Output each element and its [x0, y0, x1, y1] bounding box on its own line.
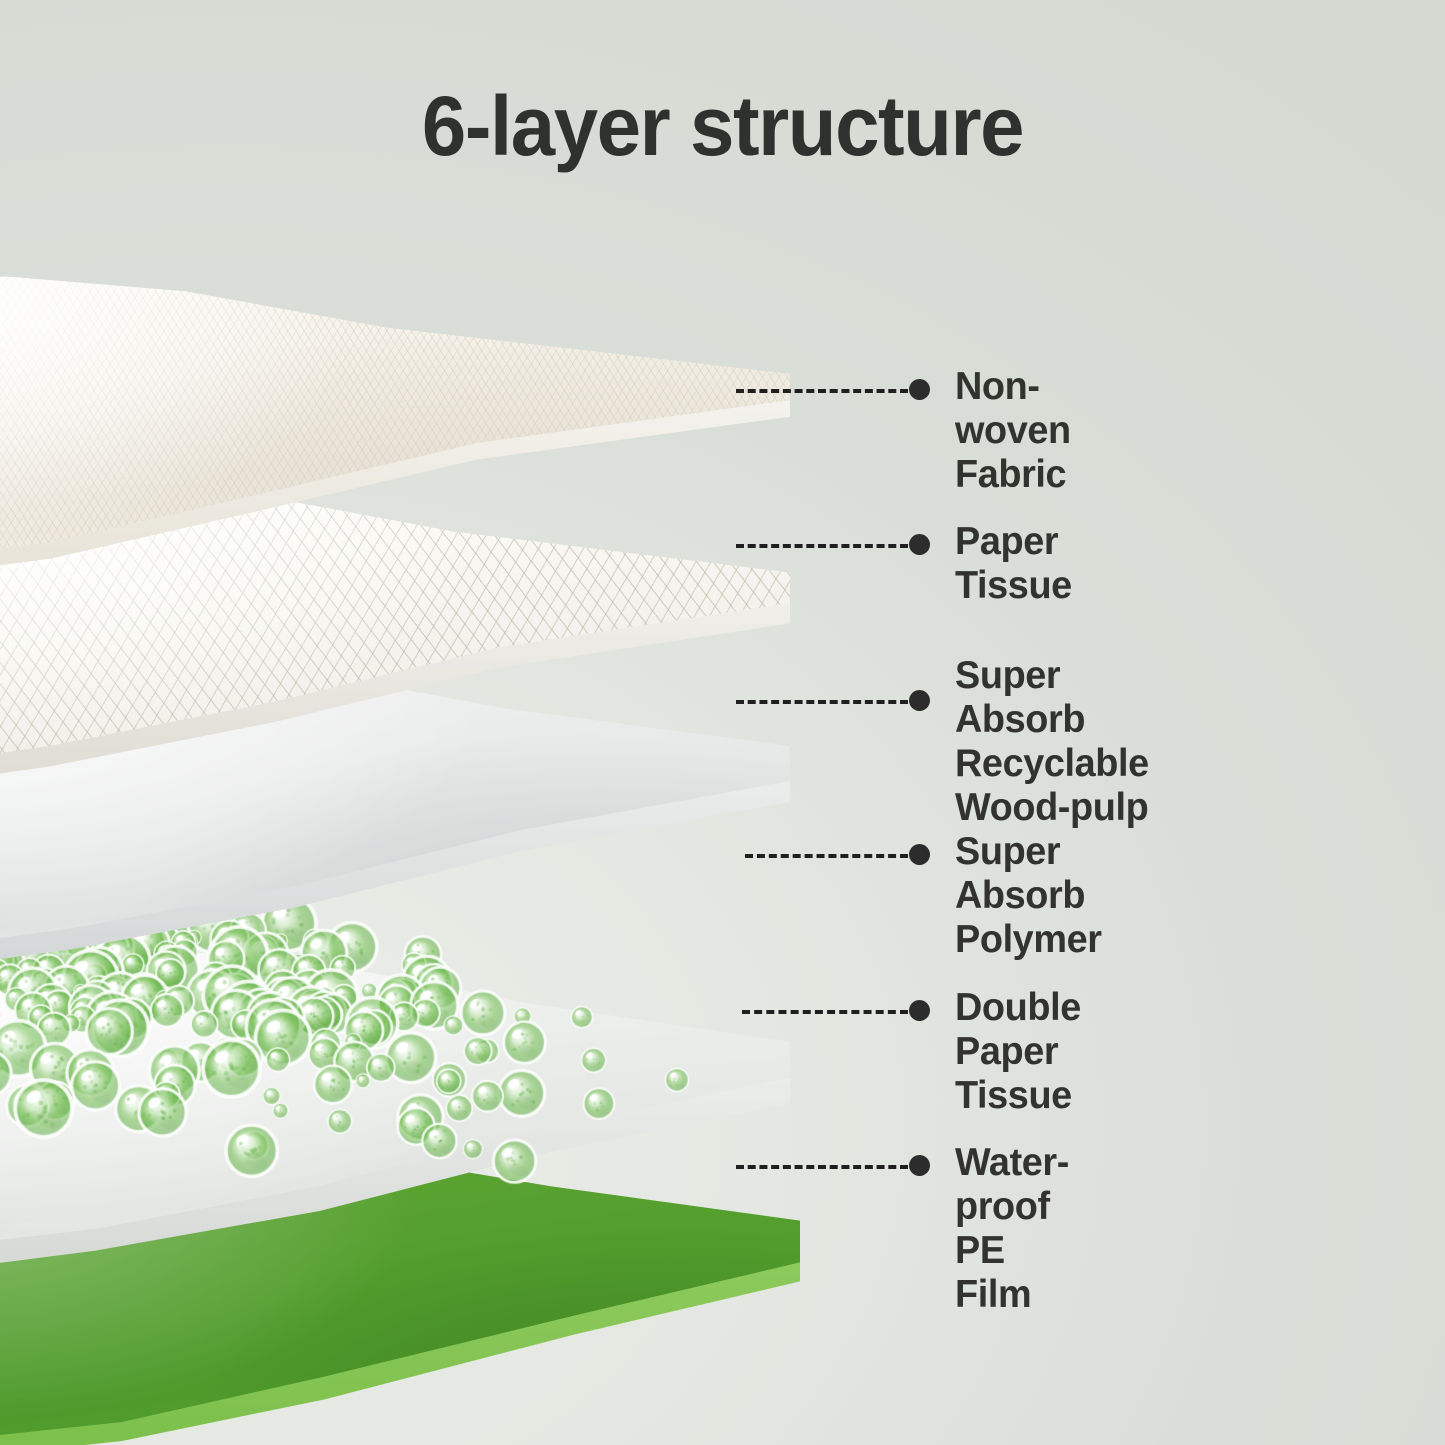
callout-label-super-absorb-polymer: Super Absorb Polymer — [955, 830, 1102, 962]
callout-dot-paper-tissue — [909, 534, 930, 555]
layer-structure-infographic: 6-layer structure Non-woven FabricPaper … — [0, 0, 1445, 1445]
callout-label-water-proof-pe-film: Water-proof PE Film — [955, 1141, 1069, 1317]
callout-dot-non-woven-fabric — [909, 379, 930, 400]
leader-line-super-absorb-recyclable-wood-pulp — [736, 700, 908, 704]
callout-label-non-woven-fabric: Non-woven Fabric — [955, 365, 1071, 497]
page-title: 6-layer structure — [36, 78, 1409, 175]
callout-label-double-paper-tissue: Double Paper Tissue — [955, 986, 1081, 1118]
leader-line-double-paper-tissue — [742, 1010, 908, 1014]
layer-illustration-non-woven-fabric — [0, 255, 790, 585]
callout-dot-super-absorb-polymer — [909, 844, 930, 865]
callout-dot-double-paper-tissue — [909, 1000, 930, 1021]
callout-label-super-absorb-recyclable-wood-pulp: Super Absorb Recyclable Wood-pulp — [955, 654, 1149, 830]
leader-line-water-proof-pe-film — [736, 1165, 908, 1169]
leader-line-non-woven-fabric — [736, 389, 908, 393]
leader-line-super-absorb-polymer — [745, 854, 908, 858]
callout-label-paper-tissue: Paper Tissue — [955, 520, 1072, 608]
callout-dot-super-absorb-recyclable-wood-pulp — [909, 690, 930, 711]
callout-dot-water-proof-pe-film — [909, 1155, 930, 1176]
leader-line-paper-tissue — [736, 544, 908, 548]
